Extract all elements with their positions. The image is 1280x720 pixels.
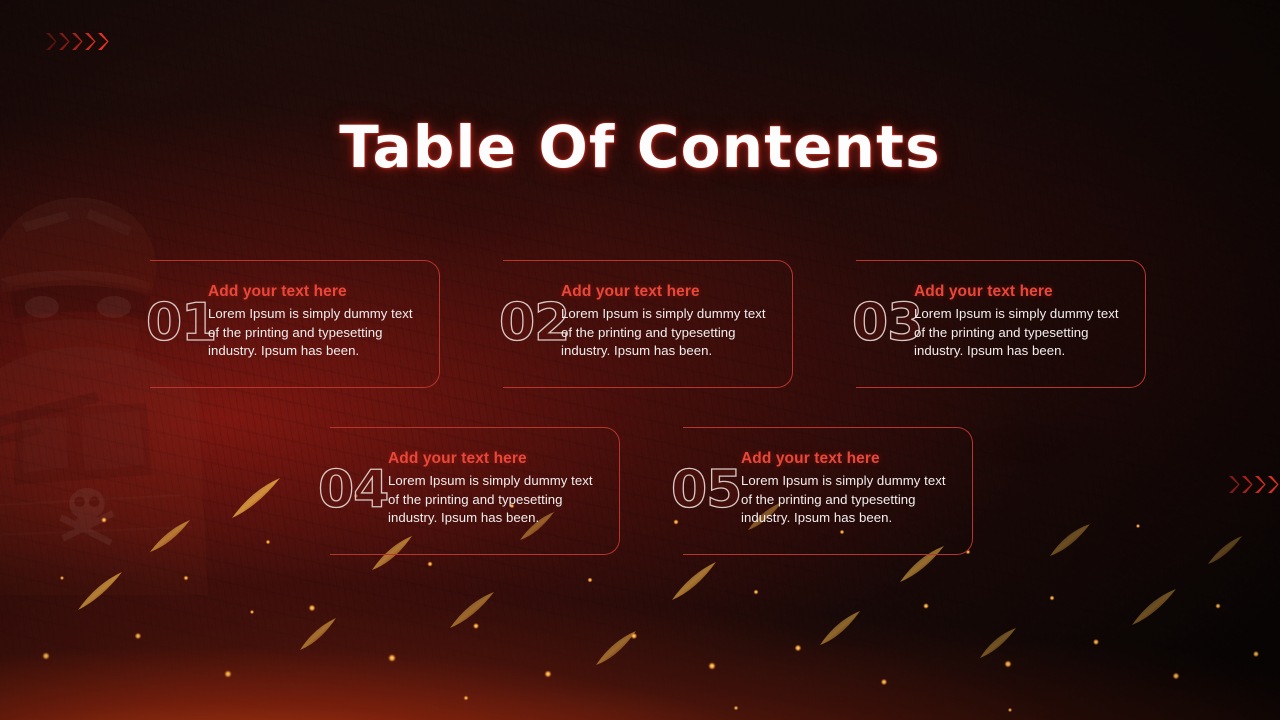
toc-card-heading: Add your text here [914,283,1140,301]
toc-card-heading: Add your text here [561,283,787,301]
toc-card-body: Add your text here Lorem Ipsum is simply… [208,283,434,361]
toc-card-text: Lorem Ipsum is simply dummy text of the … [561,305,787,361]
chevron-right-icon [45,32,57,51]
toc-card-text: Lorem Ipsum is simply dummy text of the … [914,305,1140,361]
toc-card-heading: Add your text here [208,283,434,301]
toc-card-text: Lorem Ipsum is simply dummy text of the … [741,472,967,528]
slide-canvas: Table Of Contents 01 Add your text here … [0,0,1280,720]
toc-card-number: 03 [852,297,922,349]
toc-card-number: 04 [318,464,388,516]
ember-sparks [0,460,1280,720]
toc-card-01[interactable]: 01 Add your text here Lorem Ipsum is sim… [150,260,440,388]
chevron-arrows-right [1228,475,1280,494]
page-title: Table Of Contents [0,113,1280,181]
toc-card-number: 01 [146,297,216,349]
toc-card-heading: Add your text here [388,450,614,468]
toc-card-number: 05 [671,464,741,516]
toc-card-03[interactable]: 03 Add your text here Lorem Ipsum is sim… [856,260,1146,388]
toc-card-number: 02 [499,297,569,349]
chevron-right-icon [84,32,96,51]
toc-card-text: Lorem Ipsum is simply dummy text of the … [388,472,614,528]
toc-card-body: Add your text here Lorem Ipsum is simply… [561,283,787,361]
toc-card-02[interactable]: 02 Add your text here Lorem Ipsum is sim… [503,260,793,388]
chevron-arrows-left [45,32,110,51]
chevron-right-icon [1228,475,1240,494]
chevron-right-icon [1267,475,1279,494]
toc-card-body: Add your text here Lorem Ipsum is simply… [388,450,614,528]
toc-card-heading: Add your text here [741,450,967,468]
chevron-right-icon [97,32,109,51]
toc-card-text: Lorem Ipsum is simply dummy text of the … [208,305,434,361]
toc-card-04[interactable]: 04 Add your text here Lorem Ipsum is sim… [330,427,620,555]
toc-card-body: Add your text here Lorem Ipsum is simply… [741,450,967,528]
chevron-right-icon [58,32,70,51]
toc-card-05[interactable]: 05 Add your text here Lorem Ipsum is sim… [683,427,973,555]
chevron-right-icon [1254,475,1266,494]
chevron-right-icon [1241,475,1253,494]
chevron-right-icon [71,32,83,51]
toc-card-body: Add your text here Lorem Ipsum is simply… [914,283,1140,361]
